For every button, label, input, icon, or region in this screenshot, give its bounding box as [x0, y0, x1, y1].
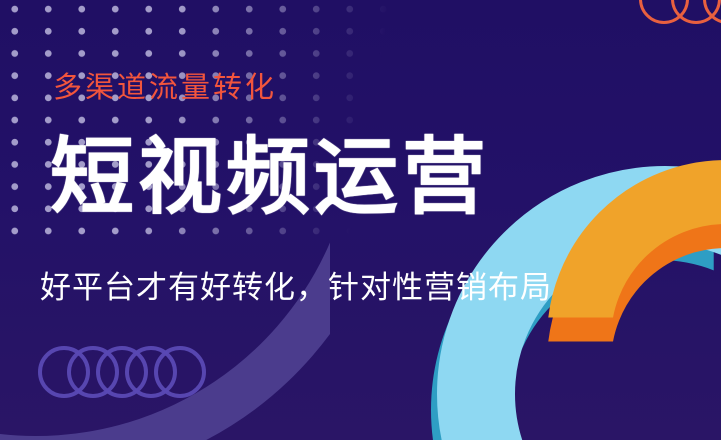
promo-banner: 多渠道流量转化 短视频运营 好平台才有好转化，针对性营销布局 — [0, 0, 721, 440]
banner-tagline: 好平台才有好转化，针对性营销布局 — [40, 262, 552, 307]
banner-kicker: 多渠道流量转化 — [53, 64, 277, 106]
banner-headline: 短视频运营 — [50, 135, 490, 219]
text-layer: 多渠道流量转化 短视频运营 好平台才有好转化，针对性营销布局 — [0, 0, 721, 440]
